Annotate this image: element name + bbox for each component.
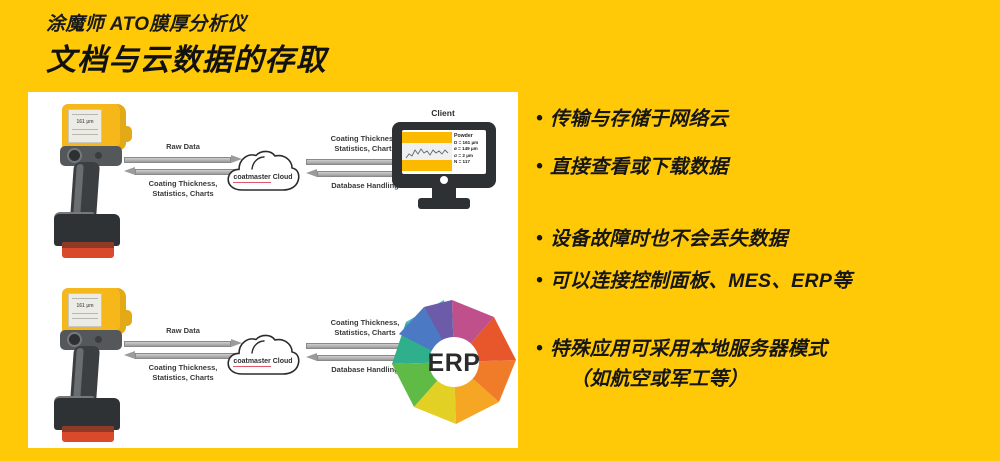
monitor-chart	[402, 130, 452, 174]
monitor-screen: Powder D = 161 µm ø = 149 µm σ = 2 µm N …	[402, 130, 486, 174]
cloud-icon: coatmaster Cloud	[224, 332, 302, 380]
erp-label: ERP	[388, 349, 520, 378]
device-display: 161 µm	[68, 109, 102, 143]
list-item: • 可以连接控制面板、MES、ERP等	[536, 268, 852, 294]
list-item: • 传输与存储于网络云	[536, 106, 728, 132]
cloud-brand: coatmaster	[233, 174, 270, 183]
monitor-stats: Powder D = 161 µm ø = 149 µm σ = 2 µm N …	[452, 130, 486, 174]
list-item: • 特殊应用可采用本地服务器模式 （如航空或军工等）	[536, 336, 827, 392]
bullet-marker-icon: •	[536, 268, 550, 294]
device-battery-top	[62, 242, 114, 248]
device-display-value: 161 µm	[69, 119, 101, 125]
bullet-text-group: 特殊应用可采用本地服务器模式 （如航空或军工等）	[550, 336, 827, 392]
handheld-device-icon: 161 µm	[40, 286, 136, 448]
bottom-band	[0, 448, 1000, 461]
cloud-label: coatmaster Cloud	[224, 358, 302, 365]
device-lens-icon	[67, 148, 82, 163]
page-title: 文档与云数据的存取	[46, 41, 327, 81]
list-item: • 设备故障时也不会丢失数据	[536, 226, 788, 252]
bullet-marker-icon: •	[536, 106, 550, 132]
diagram-row-cloud-to-erp: 161 µm Raw Data	[28, 282, 518, 452]
bullet-text: 设备故障时也不会丢失数据	[550, 226, 788, 252]
header: 涂魔师 ATO膜厚分析仪 文档与云数据的存取	[46, 12, 327, 81]
device-nose	[120, 126, 132, 142]
client-label: Client	[400, 108, 486, 118]
device-head: 161 µm	[62, 288, 126, 334]
diagram-panel: 161 µm Raw Data	[28, 92, 518, 448]
monitor-body: Powder D = 161 µm ø = 149 µm σ = 2 µm N …	[392, 122, 496, 188]
list-item: • 直接查看或下载数据	[536, 154, 728, 180]
diagram-row-cloud-to-client: 161 µm Raw Data	[28, 98, 518, 268]
stats-line: N = 117	[454, 159, 486, 165]
bullet-marker-icon: •	[536, 226, 550, 252]
device-head: 161 µm	[62, 104, 126, 150]
bullet-text: 可以连接控制面板、MES、ERP等	[550, 268, 852, 294]
stats-title: Powder	[454, 133, 486, 139]
device-nose	[120, 310, 132, 326]
slide-subtitle: 涂魔师 ATO膜厚分析仪	[46, 12, 327, 38]
device-lens-icon	[67, 332, 82, 347]
device-button-icon	[95, 336, 102, 343]
device-button-icon	[95, 152, 102, 159]
bullet-text: 直接查看或下载数据	[550, 154, 728, 180]
cloud-icon: coatmaster Cloud	[224, 148, 302, 196]
cloud-suffix: Cloud	[271, 174, 293, 181]
bullet-text: 传输与存储于网络云	[550, 106, 728, 132]
bullet-marker-icon: •	[536, 154, 550, 180]
bullet-marker-icon: •	[536, 336, 550, 362]
bullet-text: 特殊应用可采用本地服务器模式	[550, 338, 827, 360]
client-monitor-icon: Powder D = 161 µm ø = 149 µm σ = 2 µm N …	[392, 122, 496, 210]
erp-wheel-icon: ERP	[388, 296, 520, 428]
bullet-subtext: （如航空或军工等）	[570, 366, 827, 392]
cloud-label: coatmaster Cloud	[224, 174, 302, 181]
monitor-power-button-icon	[440, 176, 448, 184]
cloud-suffix: Cloud	[271, 358, 293, 365]
device-display-value: 161 µm	[69, 303, 101, 309]
monitor-foot	[418, 198, 470, 209]
handheld-device-icon: 161 µm	[40, 102, 136, 264]
device-battery-top	[62, 426, 114, 432]
cloud-brand: coatmaster	[233, 358, 270, 367]
slide-root: 涂魔师 ATO膜厚分析仪 文档与云数据的存取 161 µm	[0, 0, 1000, 461]
device-display: 161 µm	[68, 293, 102, 327]
